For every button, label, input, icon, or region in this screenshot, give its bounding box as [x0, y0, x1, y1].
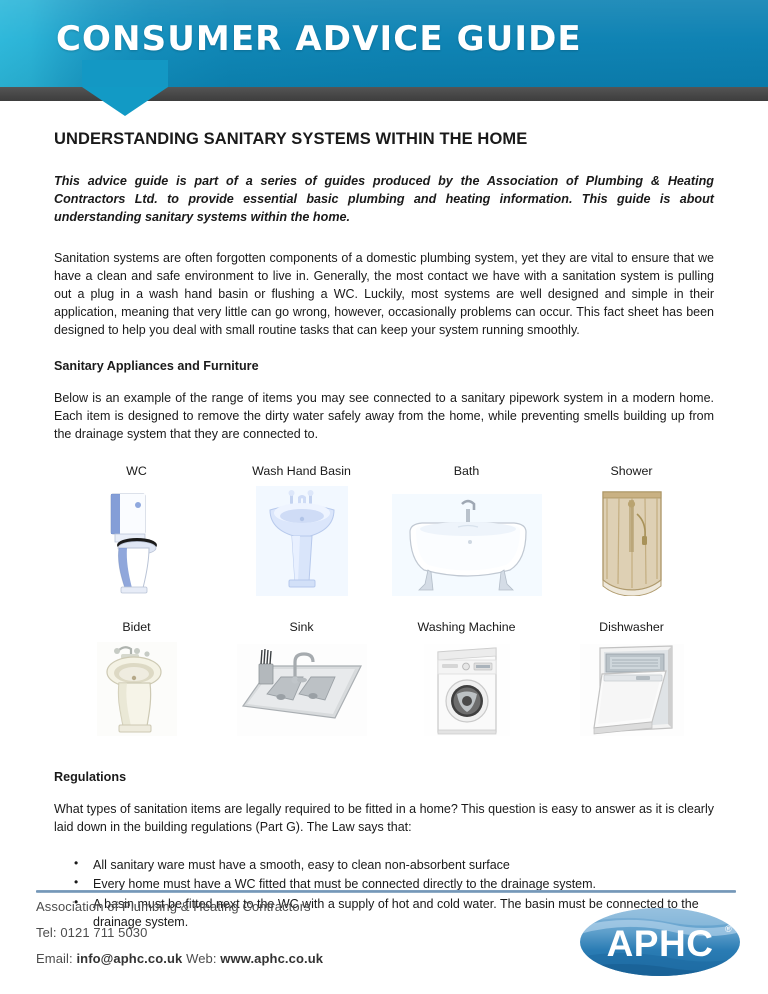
chevron-down-icon	[82, 87, 168, 116]
intro-paragraph: This advice guide is part of a series of…	[54, 172, 714, 227]
document-content: UNDERSTANDING SANITARY SYSTEMS WITHIN TH…	[54, 130, 714, 933]
appliance-label: Sink	[289, 620, 313, 634]
appliance-label: Bath	[454, 464, 480, 478]
footer-email-link[interactable]: info@aphc.co.uk	[76, 951, 182, 966]
aphc-logo: APHC ®	[578, 906, 743, 978]
appliance-cell-shower: Shower	[549, 464, 714, 596]
footer-email-label: Email:	[36, 951, 73, 966]
regulations-intro: What types of sanitation items are legal…	[54, 800, 714, 836]
appliance-cell-bath: Bath	[384, 464, 549, 596]
body-paragraph-1: Sanitation systems are often forgotten c…	[54, 249, 714, 340]
chevron-stem	[82, 60, 168, 87]
appliance-row-2: Bidet	[54, 620, 714, 736]
footer: Association of Plumbing & Heating Contra…	[36, 899, 556, 977]
appliance-cell-wc: WC	[54, 464, 219, 596]
appliance-label: Dishwasher	[599, 620, 664, 634]
document-page: CONSUMER ADVICE GUIDE UNDERSTANDING SANI…	[0, 0, 768, 994]
toilet-illustration	[105, 484, 169, 596]
shower-enclosure-illustration	[593, 484, 671, 596]
appliance-cell-bidet: Bidet	[54, 620, 219, 736]
appliances-intro: Below is an example of the range of item…	[54, 389, 714, 443]
appliance-label: Bidet	[122, 620, 150, 634]
appliance-row-1: WC	[54, 464, 714, 596]
pedestal-basin-illustration	[256, 484, 348, 596]
appliance-cell-wash-hand-basin: Wash Hand Basin	[219, 464, 384, 596]
footer-divider	[36, 890, 736, 893]
appliance-label: WC	[126, 464, 147, 478]
appliance-label: Washing Machine	[417, 620, 515, 634]
appliance-grid: WC	[54, 464, 714, 736]
dishwasher-illustration	[580, 640, 684, 736]
appliance-label: Wash Hand Basin	[252, 464, 351, 478]
page-title: UNDERSTANDING SANITARY SYSTEMS WITHIN TH…	[54, 130, 714, 150]
footer-web-link[interactable]: www.aphc.co.uk	[220, 951, 323, 966]
registered-mark: ®	[725, 924, 732, 934]
section-heading-regulations: Regulations	[54, 770, 714, 784]
footer-telephone: Tel: 0121 711 5030	[36, 925, 556, 940]
section-heading-appliances: Sanitary Appliances and Furniture	[54, 359, 714, 373]
appliance-label: Shower	[610, 464, 652, 478]
appliance-cell-washing-machine: Washing Machine	[384, 620, 549, 736]
list-item: All sanitary ware must have a smooth, ea…	[54, 856, 714, 875]
footer-contact-line: Email: info@aphc.co.uk Web: www.aphc.co.…	[36, 951, 556, 966]
washing-machine-illustration	[424, 640, 510, 736]
aphc-logo-text: APHC	[607, 923, 714, 964]
bidet-illustration	[97, 640, 177, 736]
appliance-cell-sink: Sink	[219, 620, 384, 736]
banner-title: CONSUMER ADVICE GUIDE	[56, 19, 582, 59]
footer-organisation: Association of Plumbing & Heating Contra…	[36, 899, 556, 914]
kitchen-sink-illustration	[237, 640, 367, 736]
footer-web-label: Web:	[186, 951, 217, 966]
rolltop-bath-illustration	[392, 484, 542, 596]
appliance-cell-dishwasher: Dishwasher	[549, 620, 714, 736]
